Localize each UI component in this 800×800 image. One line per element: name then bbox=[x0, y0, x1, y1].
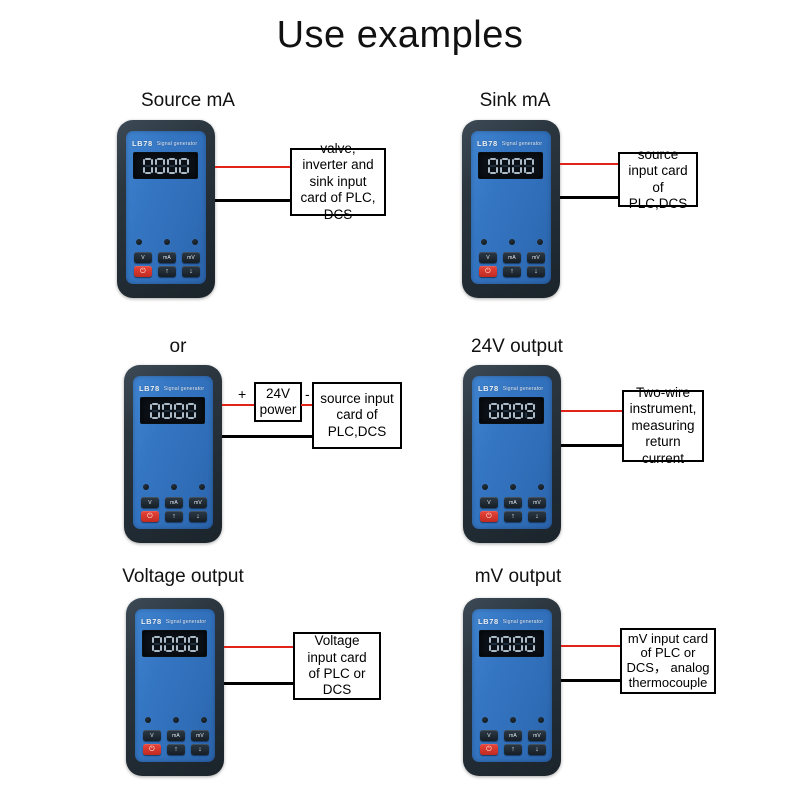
example-title-voltage-output: Voltage output bbox=[108, 566, 258, 588]
lcd-digit bbox=[525, 403, 535, 419]
led-indicator-2 bbox=[510, 484, 516, 490]
keypad-row-1: V mA mV bbox=[134, 252, 200, 263]
example-title-24v-output: 24V output bbox=[452, 336, 582, 358]
wire-black-or bbox=[222, 435, 314, 438]
led-indicator-1 bbox=[145, 717, 151, 723]
device-subtitle: Signal generator bbox=[503, 386, 543, 392]
lcd-digit bbox=[164, 636, 174, 652]
lcd-digit bbox=[155, 158, 165, 174]
down-key[interactable]: ↓ bbox=[528, 511, 546, 522]
lcd-digit bbox=[524, 158, 534, 174]
device-brand: LB78 bbox=[477, 139, 498, 148]
mv-key[interactable]: mV bbox=[189, 497, 207, 508]
power-key[interactable]: ⏻ bbox=[480, 511, 498, 522]
ma-key[interactable]: mA bbox=[158, 252, 176, 263]
mv-key[interactable]: mV bbox=[182, 252, 200, 263]
device-subtitle: Signal generator bbox=[502, 141, 542, 147]
keypad-row-1: V mA mV bbox=[141, 497, 207, 508]
ma-key[interactable]: mA bbox=[167, 730, 185, 741]
device-brand-row: LB78 Signal generator bbox=[478, 384, 547, 393]
label-box-or: source input card of PLC,DCS bbox=[312, 382, 402, 449]
led-indicator-2 bbox=[509, 239, 515, 245]
minus-sign-or: - bbox=[305, 387, 310, 401]
down-key[interactable]: ↓ bbox=[191, 744, 209, 755]
device-faceplate: LB78 Signal generator V mA bbox=[471, 131, 551, 284]
lcd-digit bbox=[501, 636, 511, 652]
power-key[interactable]: ⏻ bbox=[143, 744, 161, 755]
device-subtitle: Signal generator bbox=[166, 619, 206, 625]
wire-black-sink-ma bbox=[560, 196, 620, 199]
wire-black-mv-output bbox=[561, 679, 623, 682]
wire-red-mv-output bbox=[561, 645, 623, 647]
indicator-leds bbox=[143, 484, 205, 490]
v-key[interactable]: V bbox=[480, 730, 498, 741]
mv-key[interactable]: mV bbox=[528, 497, 546, 508]
v-key[interactable]: V bbox=[141, 497, 159, 508]
keypad: V mA mV ⏻ ↑ ↓ bbox=[141, 497, 207, 522]
up-key[interactable]: ↑ bbox=[503, 266, 521, 277]
down-key[interactable]: ↓ bbox=[527, 266, 545, 277]
lcd-digits bbox=[489, 403, 535, 419]
up-key[interactable]: ↑ bbox=[504, 744, 522, 755]
led-indicator-2 bbox=[510, 717, 516, 723]
down-key[interactable]: ↓ bbox=[528, 744, 546, 755]
mv-key[interactable]: mV bbox=[528, 730, 546, 741]
wire-red-source-ma bbox=[215, 166, 292, 168]
up-key[interactable]: ↑ bbox=[165, 511, 183, 522]
indicator-leds bbox=[482, 484, 544, 490]
device-subtitle: Signal generator bbox=[164, 386, 204, 392]
power-key[interactable]: ⏻ bbox=[134, 266, 152, 277]
device-source-ma[interactable]: LB78 Signal generator V mA bbox=[117, 120, 215, 298]
keypad-row-2: ⏻ ↑ ↓ bbox=[143, 744, 209, 755]
led-indicator-3 bbox=[537, 239, 543, 245]
led-indicator-1 bbox=[143, 484, 149, 490]
wire-black-voltage-output bbox=[224, 682, 296, 685]
led-indicator-3 bbox=[199, 484, 205, 490]
led-indicator-2 bbox=[173, 717, 179, 723]
mv-key[interactable]: mV bbox=[527, 252, 545, 263]
lcd-digit bbox=[501, 403, 511, 419]
wire-black-24v-output bbox=[561, 444, 626, 447]
indicator-leds bbox=[481, 239, 543, 245]
device-brand: LB78 bbox=[141, 617, 162, 626]
keypad: V mA mV ⏻ ↑ ↓ bbox=[480, 730, 546, 755]
keypad-row-2: ⏻ ↑ ↓ bbox=[141, 511, 207, 522]
device-mv-output[interactable]: LB78 Signal generator V mA bbox=[463, 598, 561, 776]
lcd-digits bbox=[488, 158, 534, 174]
lcd-display-mv-output bbox=[479, 630, 544, 657]
v-key[interactable]: V bbox=[134, 252, 152, 263]
label-box-mv-output: mV input card of PLC or DCS， analog ther… bbox=[620, 628, 716, 694]
device-brand-row: LB78 Signal generator bbox=[477, 139, 546, 148]
led-indicator-2 bbox=[164, 239, 170, 245]
example-title-mv-output: mV output bbox=[458, 566, 578, 588]
lcd-digit bbox=[500, 158, 510, 174]
indicator-leds bbox=[482, 717, 544, 723]
label-box-voltage-output: Voltage input card of PLC or DCS bbox=[293, 632, 381, 700]
device-brand-row: LB78 Signal generator bbox=[139, 384, 208, 393]
example-title-source-ma: Source mA bbox=[128, 90, 248, 112]
keypad-row-1: V mA mV bbox=[479, 252, 545, 263]
led-indicator-3 bbox=[192, 239, 198, 245]
wire-red-24v-output bbox=[561, 410, 626, 412]
lcd-digit bbox=[150, 403, 160, 419]
wire-red-or-left bbox=[222, 404, 256, 406]
power-key[interactable]: ⏻ bbox=[479, 266, 497, 277]
keypad: V mA mV ⏻ ↑ ↓ bbox=[143, 730, 209, 755]
keypad-row-1: V mA mV bbox=[480, 497, 546, 508]
led-indicator-2 bbox=[171, 484, 177, 490]
device-brand-row: LB78 Signal generator bbox=[141, 617, 210, 626]
device-brand: LB78 bbox=[478, 384, 499, 393]
device-brand: LB78 bbox=[478, 617, 499, 626]
device-faceplate: LB78 Signal generator V mA bbox=[133, 376, 213, 529]
led-indicator-3 bbox=[538, 717, 544, 723]
wire-black-source-ma bbox=[215, 199, 292, 202]
ma-key[interactable]: mA bbox=[503, 252, 521, 263]
lcd-digit bbox=[152, 636, 162, 652]
led-indicator-1 bbox=[136, 239, 142, 245]
device-faceplate: LB78 Signal generator V mA bbox=[472, 376, 552, 529]
up-key[interactable]: ↑ bbox=[158, 266, 176, 277]
keypad-row-2: ⏻ ↑ ↓ bbox=[480, 511, 546, 522]
lcd-digit bbox=[162, 403, 172, 419]
device-sink-ma[interactable]: LB78 Signal generator V mA bbox=[462, 120, 560, 298]
keypad-row-2: ⏻ ↑ ↓ bbox=[134, 266, 200, 277]
lcd-digit bbox=[186, 403, 196, 419]
lcd-display-or bbox=[140, 397, 205, 424]
lcd-digits bbox=[143, 158, 189, 174]
lcd-digit bbox=[167, 158, 177, 174]
indicator-leds bbox=[145, 717, 207, 723]
ma-key[interactable]: mA bbox=[165, 497, 183, 508]
keypad: V mA mV ⏻ ↑ ↓ bbox=[134, 252, 200, 277]
device-or[interactable]: LB78 Signal generator V mA bbox=[124, 365, 222, 543]
lcd-digit bbox=[488, 158, 498, 174]
wire-red-sink-ma bbox=[560, 163, 620, 165]
lcd-digit bbox=[513, 403, 523, 419]
device-brand-row: LB78 Signal generator bbox=[132, 139, 201, 148]
lcd-digit bbox=[489, 403, 499, 419]
lcd-digit bbox=[179, 158, 189, 174]
led-indicator-3 bbox=[201, 717, 207, 723]
device-faceplate: LB78 Signal generator V mA bbox=[472, 609, 552, 762]
lcd-digits bbox=[152, 636, 198, 652]
keypad-row-1: V mA mV bbox=[480, 730, 546, 741]
power-key[interactable]: ⏻ bbox=[141, 511, 159, 522]
lcd-digit bbox=[512, 158, 522, 174]
ma-key[interactable]: mA bbox=[504, 497, 522, 508]
keypad: V mA mV ⏻ ↑ ↓ bbox=[480, 497, 546, 522]
led-indicator-1 bbox=[482, 484, 488, 490]
device-voltage-output[interactable]: LB78 Signal generator V mA bbox=[126, 598, 224, 776]
example-title-sink-ma: Sink mA bbox=[460, 90, 570, 112]
indicator-leds bbox=[136, 239, 198, 245]
label-box-source-ma: valve, inverter and sink input card of P… bbox=[290, 148, 386, 216]
device-24v-output[interactable]: LB78 Signal generator V mA bbox=[463, 365, 561, 543]
keypad: V mA mV ⏻ ↑ ↓ bbox=[479, 252, 545, 277]
lcd-digits bbox=[489, 636, 535, 652]
label-box-sink-ma: source input card of PLC,DCS bbox=[618, 152, 698, 207]
page-title: Use examples bbox=[0, 14, 800, 57]
v-key[interactable]: V bbox=[479, 252, 497, 263]
example-title-or: or bbox=[143, 336, 213, 358]
keypad-row-2: ⏻ ↑ ↓ bbox=[480, 744, 546, 755]
down-key[interactable]: ↓ bbox=[189, 511, 207, 522]
lcd-digit bbox=[188, 636, 198, 652]
keypad-row-1: V mA mV bbox=[143, 730, 209, 741]
device-brand: LB78 bbox=[139, 384, 160, 393]
lcd-display-24v-output bbox=[479, 397, 544, 424]
ma-key[interactable]: mA bbox=[504, 730, 522, 741]
device-subtitle: Signal generator bbox=[157, 141, 197, 147]
up-key[interactable]: ↑ bbox=[167, 744, 185, 755]
lcd-digit bbox=[489, 636, 499, 652]
lcd-display-source-ma bbox=[133, 152, 198, 179]
device-faceplate: LB78 Signal generator V mA bbox=[135, 609, 215, 762]
v-key[interactable]: V bbox=[143, 730, 161, 741]
keypad-row-2: ⏻ ↑ ↓ bbox=[479, 266, 545, 277]
mv-key[interactable]: mV bbox=[191, 730, 209, 741]
device-brand: LB78 bbox=[132, 139, 153, 148]
power-box-24v: 24V power bbox=[254, 382, 302, 422]
down-key[interactable]: ↓ bbox=[182, 266, 200, 277]
lcd-digit bbox=[176, 636, 186, 652]
led-indicator-1 bbox=[482, 717, 488, 723]
power-key[interactable]: ⏻ bbox=[480, 744, 498, 755]
lcd-digit bbox=[513, 636, 523, 652]
led-indicator-1 bbox=[481, 239, 487, 245]
lcd-digit bbox=[143, 158, 153, 174]
device-brand-row: LB78 Signal generator bbox=[478, 617, 547, 626]
v-key[interactable]: V bbox=[480, 497, 498, 508]
lcd-digits bbox=[150, 403, 196, 419]
lcd-digit bbox=[525, 636, 535, 652]
device-subtitle: Signal generator bbox=[503, 619, 543, 625]
device-faceplate: LB78 Signal generator V mA bbox=[126, 131, 206, 284]
lcd-digit bbox=[174, 403, 184, 419]
wire-red-voltage-output bbox=[224, 646, 296, 648]
led-indicator-3 bbox=[538, 484, 544, 490]
label-box-24v-output: Two-wire instrument, measuring return cu… bbox=[622, 390, 704, 462]
up-key[interactable]: ↑ bbox=[504, 511, 522, 522]
plus-sign-or: + bbox=[238, 387, 246, 401]
lcd-display-sink-ma bbox=[478, 152, 543, 179]
lcd-display-voltage-output bbox=[142, 630, 207, 657]
